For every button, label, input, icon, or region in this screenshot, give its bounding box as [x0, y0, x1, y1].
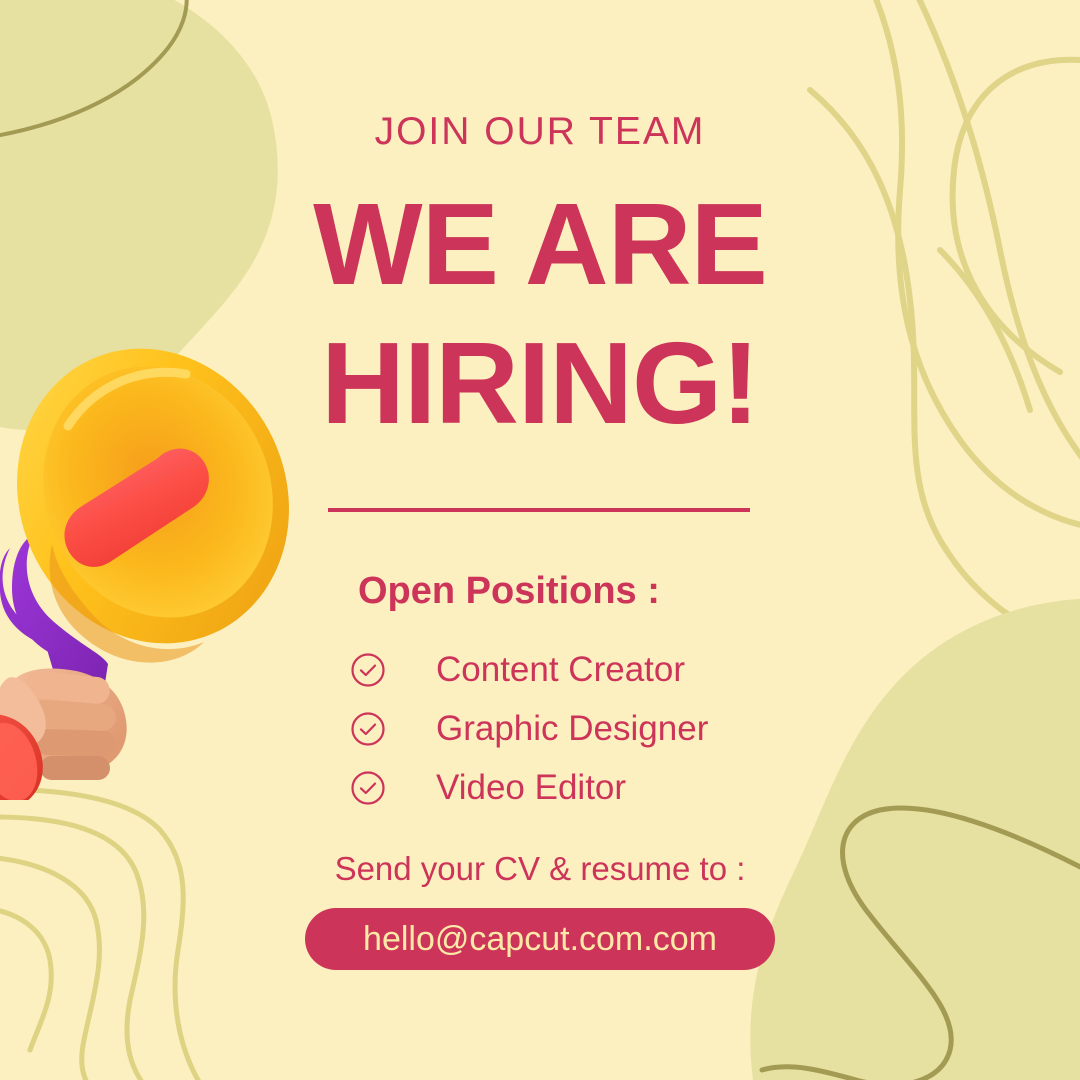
email-button[interactable]: hello@capcut.com.com [305, 908, 775, 970]
list-item: Graphic Designer [350, 699, 780, 758]
position-label: Video Editor [436, 770, 626, 805]
open-positions-list: Content Creator Graphic Designer Video E… [350, 640, 780, 817]
position-label: Content Creator [436, 652, 685, 687]
check-circle-icon [350, 652, 386, 688]
headline-line-2: HIRING! [300, 325, 780, 441]
check-circle-icon [350, 711, 386, 747]
megaphone-icon [0, 330, 320, 800]
open-positions-title: Open Positions : [358, 572, 660, 610]
divider-rule [328, 508, 750, 512]
poster-content: JOIN OUR TEAM WE ARE HIRING! Open Positi… [300, 0, 1080, 1080]
hiring-poster: JOIN OUR TEAM WE ARE HIRING! Open Positi… [0, 0, 1080, 1080]
list-item: Video Editor [350, 758, 780, 817]
check-circle-icon [350, 770, 386, 806]
cta-instruction: Send your CV & resume to : [300, 852, 780, 885]
eyebrow-text: JOIN OUR TEAM [300, 112, 780, 151]
email-address: hello@capcut.com.com [363, 922, 717, 956]
position-label: Graphic Designer [436, 711, 708, 746]
headline-line-1: WE ARE [300, 186, 780, 302]
contour-group-bottom-left [0, 789, 204, 1080]
list-item: Content Creator [350, 640, 780, 699]
